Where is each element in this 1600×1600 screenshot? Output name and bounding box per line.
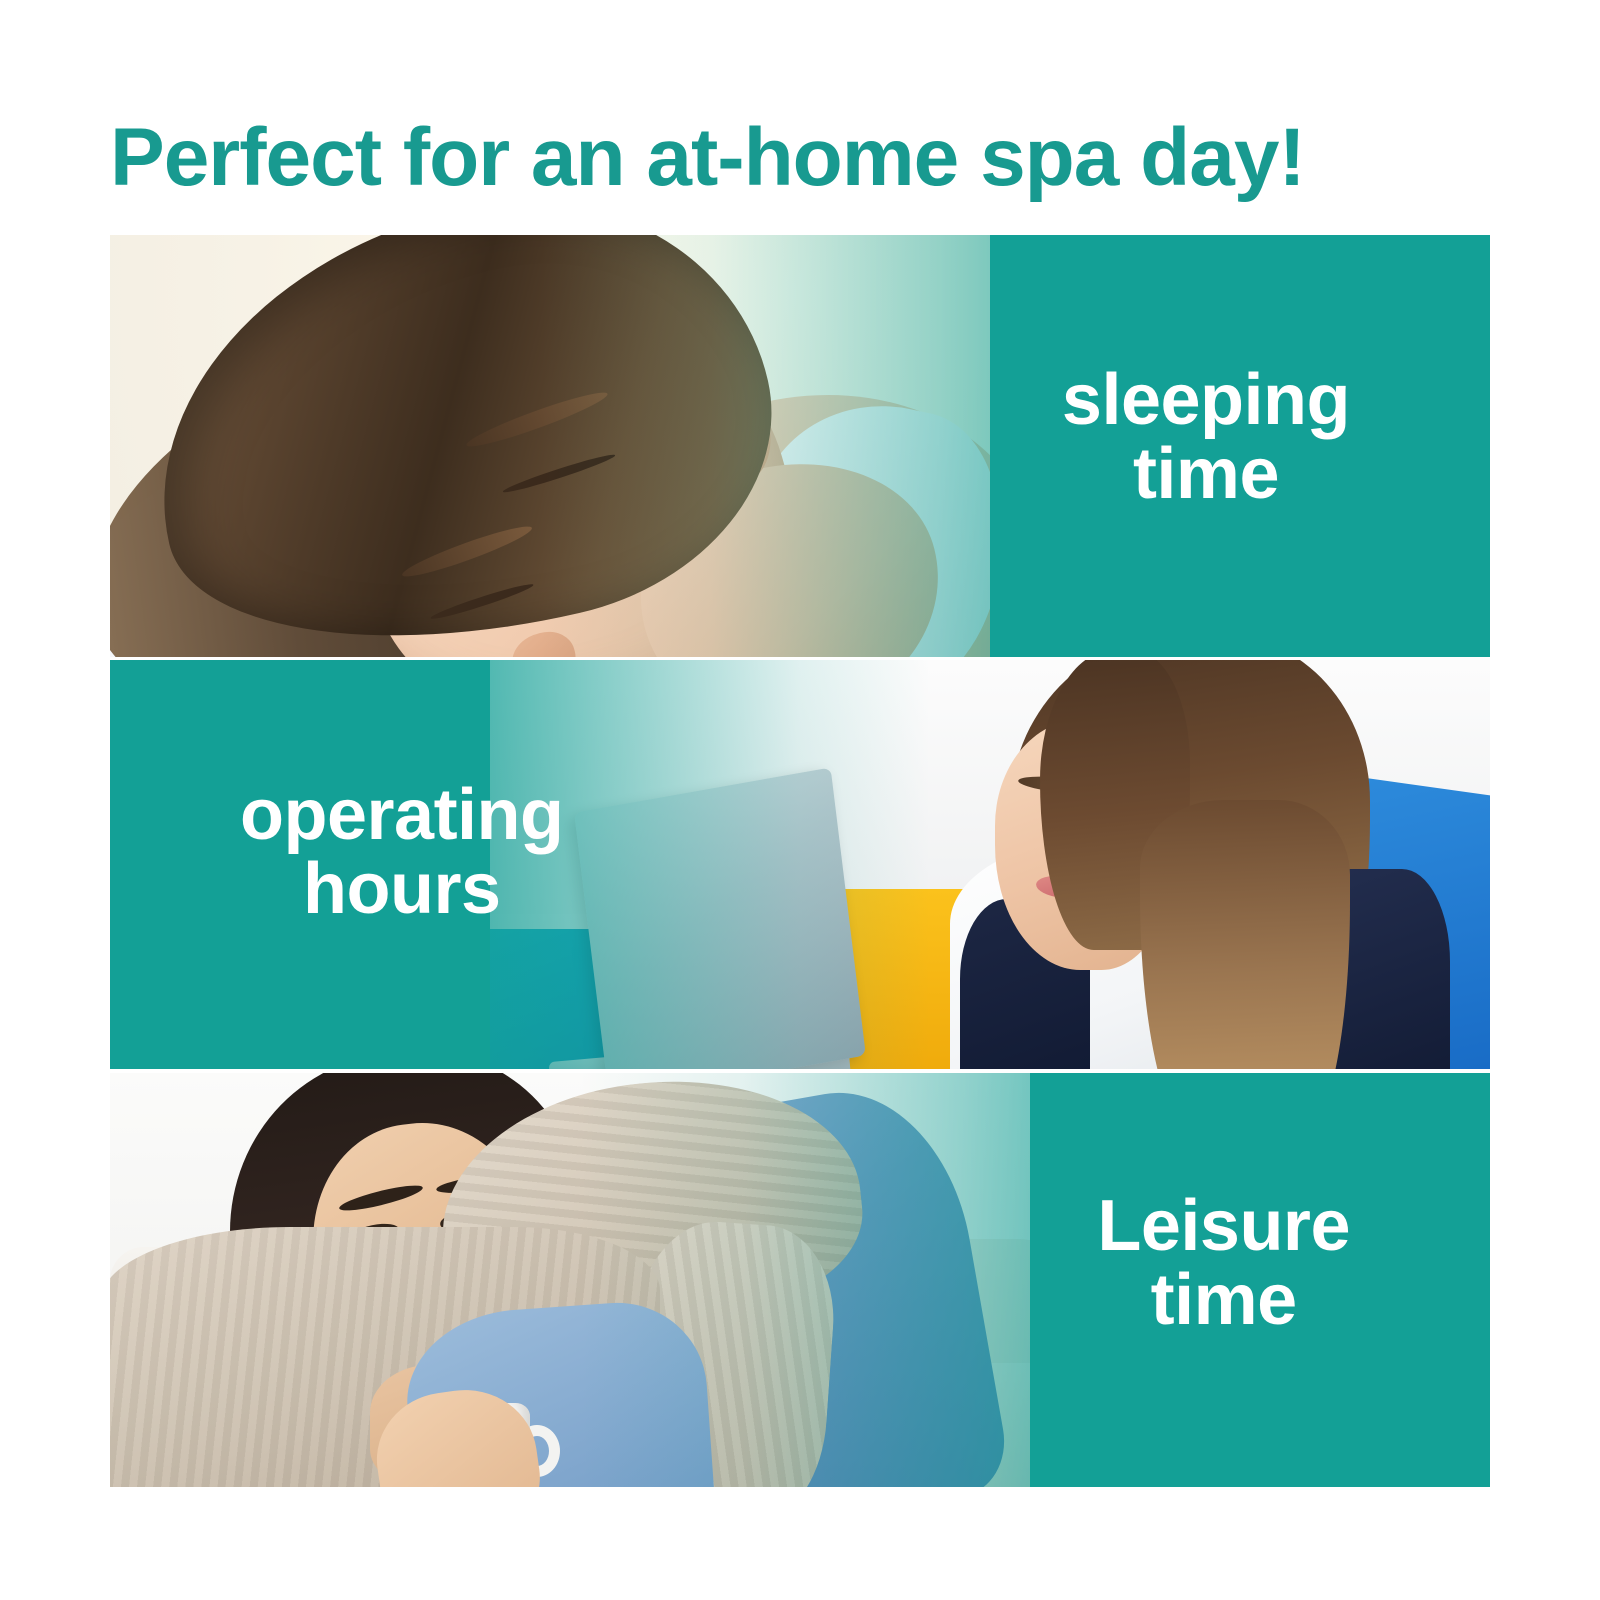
panel-caption-operating-hours: operating hours <box>240 778 564 926</box>
panel-caption-leisure-time: Leisure time <box>1097 1189 1350 1337</box>
panel-caption-sleeping-time: sleeping time <box>1062 363 1350 511</box>
teal-gradient-overlay <box>580 1073 1490 1487</box>
page-title: Perfect for an at-home spa day! <box>110 106 1490 210</box>
panel-operating-hours: operating hours <box>110 660 1490 1069</box>
panel-sleeping-time: sleeping time <box>110 235 1490 657</box>
panel-leisure-time: Leisure time <box>110 1073 1490 1487</box>
hair-overlay-shape <box>1140 800 1350 1069</box>
